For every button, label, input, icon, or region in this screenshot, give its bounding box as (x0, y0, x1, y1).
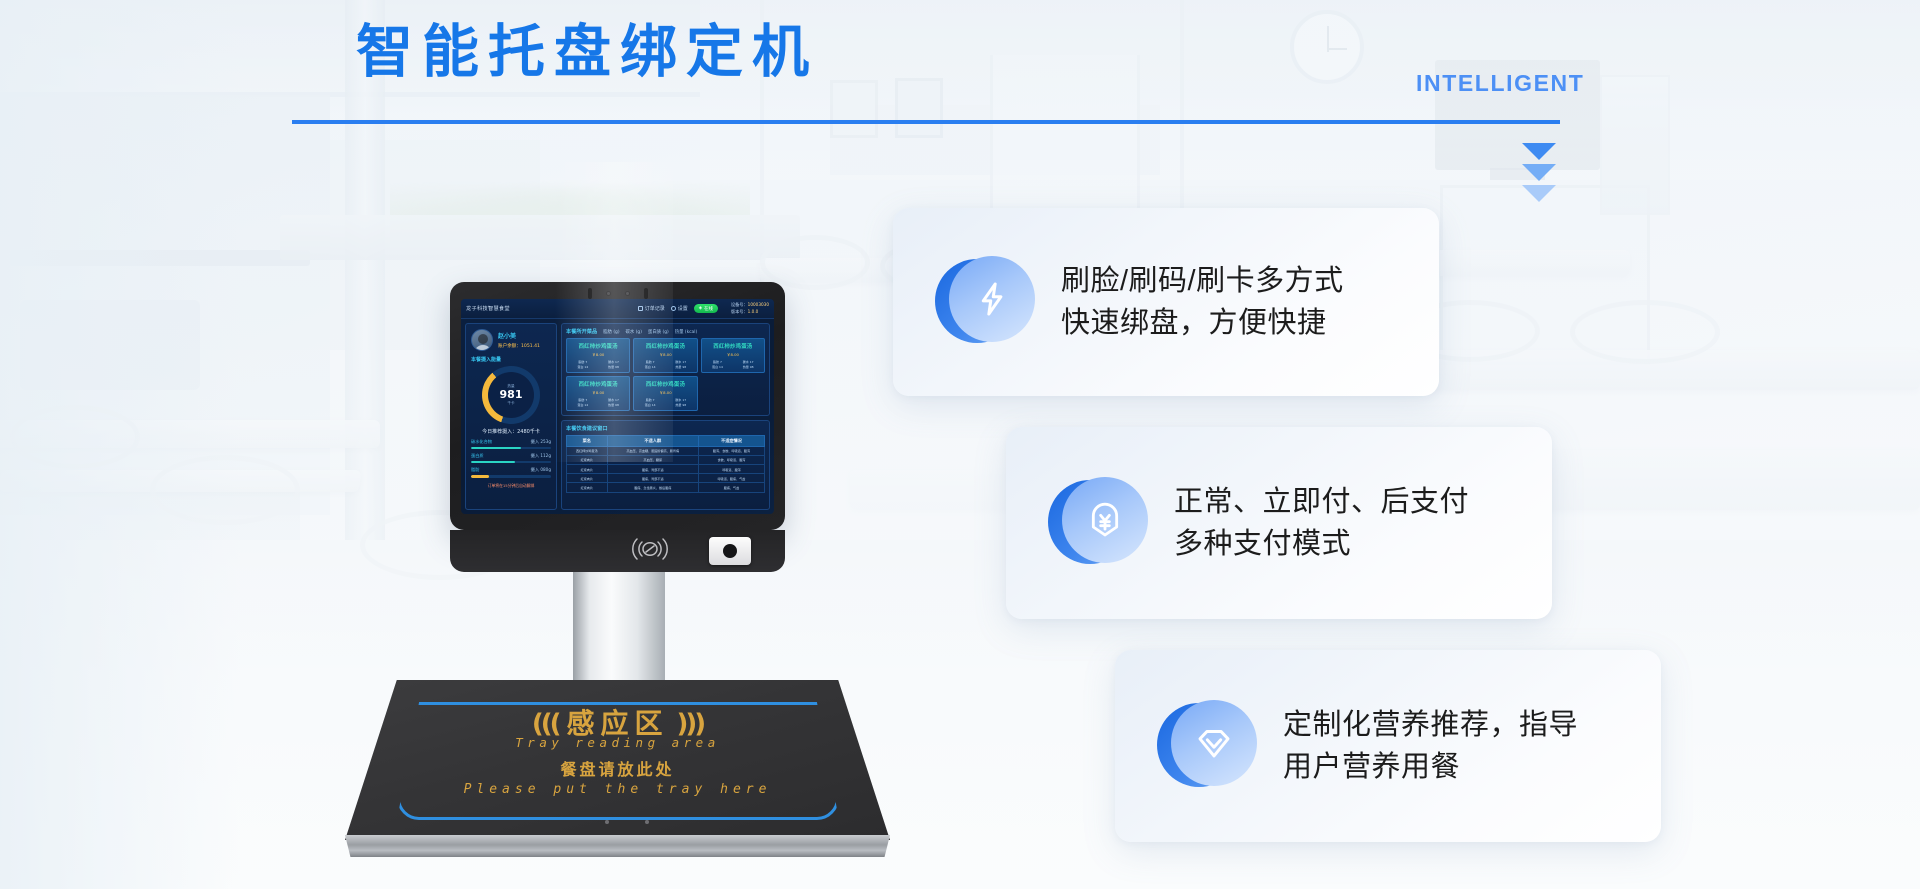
camera-icon (606, 291, 611, 296)
avatar (471, 329, 493, 351)
feature-card-nutrition[interactable]: 定制化营养推荐，指导 用户营养用餐 (1115, 650, 1661, 842)
nutrient-bar: 碳水化合物摄入 253g (471, 439, 551, 449)
canteen-brand-label: 龙子科技智慧食堂 (466, 305, 510, 312)
reader-sensor-dot (723, 544, 737, 558)
yen-payment-icon (1048, 477, 1140, 569)
dish-card[interactable]: 西红柿炒鸡蛋汤￥8.00脂肪 7碳水 17蛋白 14热量 98 (633, 338, 697, 373)
status-badge-label: 在线 (704, 306, 713, 312)
tray-binding-terminal: ((( 感应区 ))) Tray reading area 餐盘请放此处 Ple… (355, 282, 885, 842)
dish-col-protein: 蛋白质 (g) (648, 329, 669, 335)
dish-price: ￥8.00 (636, 390, 694, 396)
table-row: 红烧肉片腹痛、胃部不适呼吸道、腹泻 (567, 464, 765, 473)
feature-line-1: 正常、立即付、后支付 (1174, 481, 1469, 523)
dish-card[interactable]: 西红柿炒鸡蛋汤￥8.00脂肪 7碳水 17蛋白 14热量 98 (566, 376, 630, 411)
nutrient-bar-fill (471, 447, 521, 450)
nutrient-bar-fill (471, 461, 515, 464)
table-row: 西红柿炒鸡蛋汤高血压、高血糖、胆固醇偏高、肠胃病腹泻、食欲、呼吸道、腹泻 (567, 446, 765, 455)
down-arrows-group (1522, 143, 1556, 206)
nutrient-label: 蛋白质 (471, 453, 484, 459)
nutrient-bar-top: 脂肪摄入 080g (471, 467, 551, 473)
feature-card-text: 定制化营养推荐，指导 用户营养用餐 (1283, 704, 1578, 789)
chevron-down-icon (1522, 185, 1556, 202)
feature-card-text: 刷脸/刷码/刷卡多方式 快速绑盘，方便快捷 (1061, 260, 1344, 345)
table-cell: 腹泻、食欲、呼吸道、腹泻 (698, 446, 764, 455)
table-cell: 红烧肉片 (567, 474, 608, 483)
nutrient-amount: 摄入 253g (531, 439, 551, 445)
table-cell: 西红柿炒鸡蛋汤 (567, 446, 608, 455)
table-cell: 腹痛、急性肠炎、餐后腹痛 (607, 483, 698, 492)
nav-settings[interactable]: 设置 (671, 305, 688, 312)
dish-col-carb: 碳水 (g) (626, 329, 642, 335)
ring-inner: 热量 981 千卡 (488, 372, 534, 418)
user-balance-value: 1051.41 (521, 344, 540, 349)
dish-name: 西红柿炒鸡蛋汤 (636, 342, 694, 350)
table-cell: 食欲、呼吸道、腹泻 (698, 455, 764, 464)
base-led (645, 820, 649, 824)
dishes-grid: 西红柿炒鸡蛋汤￥8.00脂肪 7碳水 17蛋白 14热量 98西红柿炒鸡蛋汤￥8… (566, 338, 765, 411)
dish-price: ￥8.00 (569, 352, 627, 358)
dish-protein: 蛋白 14 (636, 365, 664, 370)
user-name: 赵小美 (498, 331, 540, 340)
dish-card[interactable]: 西红柿炒鸡蛋汤￥8.00脂肪 7碳水 17蛋白 14热量 98 (633, 376, 697, 411)
table-row: 红烧肉片腹痛、急性肠炎、餐后腹痛腹痛、气虚 (567, 483, 765, 492)
feature-line-1: 定制化营养推荐，指导 (1283, 704, 1578, 746)
table-cell: 呼吸道、腹痛、气虚 (698, 474, 764, 483)
screen-body: 赵小美 账户余额：1051.41 本餐摄入能量 热量 981 千卡 (461, 319, 774, 514)
feature-card-text: 正常、立即付、后支付 多种支付模式 (1174, 481, 1469, 566)
dishes-header-row: 本餐所开菜品 脂肪 (g) 碳水 (g) 蛋白质 (g) 热量 (kcal) (566, 328, 765, 335)
dish-nutrition: 脂肪 7碳水 17蛋白 14热量 98 (569, 398, 627, 407)
dish-name: 西红柿炒鸡蛋汤 (704, 342, 762, 350)
chevron-down-icon (1522, 164, 1556, 181)
nutrient-bar-track (471, 475, 551, 478)
dish-protein: 蛋白 14 (569, 365, 597, 370)
user-balance-row: 账户余额：1051.41 (498, 343, 540, 349)
nutrient-bar: 蛋白质摄入 112g (471, 453, 551, 463)
dishes-section-label: 本餐所开菜品 (566, 328, 597, 335)
col-dish-name: 菜名 (567, 436, 608, 447)
photo-left-fade (0, 0, 240, 889)
screen-nav: 订单记录 设置 ◈ 在线 设备号：10003030 (638, 302, 769, 315)
base-led (605, 820, 609, 824)
speaker-slot (644, 288, 648, 299)
ring-value: 981 (500, 389, 523, 400)
sensor-icon (625, 291, 630, 296)
nutrient-bars-group: 碳水化合物摄入 253g蛋白质摄入 112g脂肪摄入 080g (471, 439, 551, 478)
gear-icon (671, 306, 676, 311)
nutrient-bar-track (471, 461, 551, 464)
table-cell: 高血压、糖尿 (607, 455, 698, 464)
sensing-area-title: 感应区 (566, 710, 668, 738)
auto-unbind-tip: 订单将在15分钟后自动解绑 (471, 483, 551, 489)
nav-settings-label: 设置 (678, 305, 688, 312)
ring-unit: 千卡 (507, 401, 514, 406)
feature-line-1: 刷脸/刷码/刷卡多方式 (1061, 260, 1344, 302)
wave-right-icon: ))) (677, 711, 704, 737)
dish-col-energy: 热量 (kcal) (675, 329, 697, 335)
dish-price: ￥8.00 (636, 352, 694, 358)
dish-energy: 热量 98 (734, 365, 762, 370)
suggest-section-label: 本餐饮食建议窗口 (566, 425, 765, 432)
nav-order-record-label: 订单记录 (645, 305, 665, 312)
user-info: 赵小美 账户余额：1051.41 (498, 331, 540, 349)
dish-energy: 热量 98 (600, 365, 628, 370)
tray-instruction-en: Please put the tray here (345, 782, 890, 797)
table-cell: 红烧肉片 (567, 464, 608, 473)
dish-nutrition: 脂肪 7碳水 17蛋白 14热量 98 (636, 398, 694, 407)
feature-line-2: 快速绑盘，方便快捷 (1061, 302, 1344, 344)
table-cell: 腹痛、胃部不适 (607, 474, 698, 483)
nutrient-bar: 脂肪摄入 080g (471, 467, 551, 477)
title-underline-rule (292, 120, 1560, 124)
feature-line-2: 多种支付模式 (1174, 523, 1469, 565)
chevron-down-icon (1522, 143, 1556, 160)
col-unsuitable-group: 不适人群 (607, 436, 698, 447)
icon-front-circle (1171, 700, 1257, 786)
dish-energy: 热量 98 (667, 365, 695, 370)
camera-row (450, 287, 785, 299)
diet-suggestion-table: 菜名 不适人群 不适症情况 西红柿炒鸡蛋汤高血压、高血糖、胆固醇偏高、肠胃病腹泻… (566, 435, 765, 493)
nutrient-bar-fill (471, 475, 489, 478)
dish-protein: 蛋白 14 (569, 403, 597, 408)
wave-left-icon: ((( (532, 711, 559, 737)
dish-energy: 热量 98 (667, 403, 695, 408)
nutrient-amount: 摄入 112g (531, 453, 551, 459)
dish-col-fat: 脂肪 (g) (603, 329, 619, 335)
feature-line-2: 用户营养用餐 (1283, 746, 1578, 788)
feature-card-binding[interactable]: 刷脸/刷码/刷卡多方式 快速绑盘，方便快捷 (893, 208, 1439, 396)
version-row: 版本号：1.0.0 (731, 309, 769, 315)
user-nutrition-panel: 赵小美 账户余额：1051.41 本餐摄入能量 热量 981 千卡 (465, 323, 557, 510)
nav-order-record[interactable]: 订单记录 (638, 305, 665, 312)
version-label: 版本号： (731, 309, 748, 314)
feature-card-payment[interactable]: 正常、立即付、后支付 多种支付模式 (1006, 427, 1552, 619)
dish-card[interactable]: 西红柿炒鸡蛋汤￥8.00脂肪 7碳水 17蛋白 14热量 98 (566, 338, 630, 373)
screen-right-column: 本餐所开菜品 脂肪 (g) 碳水 (g) 蛋白质 (g) 热量 (kcal) 西… (561, 323, 770, 510)
nfc-wave-icon[interactable] (621, 534, 679, 569)
screen-header-bar: 龙子科技智慧食堂 订单记录 设置 ◈ 在线 (461, 299, 774, 319)
table-cell: 呼吸道、腹泻 (698, 464, 764, 473)
device-no-value: 10003030 (748, 302, 769, 307)
table-row: 红烧肉片腹痛、胃部不适呼吸道、腹痛、气虚 (567, 474, 765, 483)
nutrient-label: 脂肪 (471, 467, 479, 473)
nutrient-amount: 摄入 080g (531, 467, 551, 473)
dish-name: 西红柿炒鸡蛋汤 (636, 380, 694, 388)
dish-price: ￥8.00 (704, 352, 762, 358)
table-cell: 高血压、高血糖、胆固醇偏高、肠胃病 (607, 446, 698, 455)
dish-card[interactable]: 西红柿炒鸡蛋汤￥8.00脂肪 7碳水 17蛋白 14热量 98 (701, 338, 765, 373)
dish-energy: 热量 98 (600, 403, 628, 408)
nutrient-bar-track (471, 447, 551, 450)
tray-instruction-cn: 餐盘请放此处 (345, 756, 890, 780)
diet-suggestion-panel: 本餐饮食建议窗口 菜名 不适人群 不适症情况 西红柿炒鸡蛋汤高血压、高血糖、胆固… (561, 420, 770, 510)
device-meta-block: 设备号：10003030 版本号：1.0.0 (731, 302, 769, 315)
recommended-intake-line: 今日推荐摄入：2480千卡 (471, 428, 551, 435)
wifi-icon: ◈ (699, 306, 702, 311)
dishes-panel: 本餐所开菜品 脂肪 (g) 碳水 (g) 蛋白质 (g) 热量 (kcal) 西… (561, 323, 770, 416)
card-reader-module[interactable] (709, 537, 751, 565)
table-cell: 红烧肉片 (567, 483, 608, 492)
table-cell: 红烧肉片 (567, 455, 608, 464)
base-metal-edge (345, 835, 890, 857)
dish-nutrition: 脂肪 7碳水 17蛋白 14热量 98 (704, 360, 762, 369)
dish-price: ￥8.00 (569, 390, 627, 396)
speaker-slot (588, 288, 592, 299)
terminal-screen[interactable]: 龙子科技智慧食堂 订单记录 设置 ◈ 在线 (461, 299, 774, 514)
dish-name: 西红柿炒鸡蛋汤 (569, 342, 627, 350)
nutrient-bar-top: 碳水化合物摄入 253g (471, 439, 551, 445)
table-body: 西红柿炒鸡蛋汤高血压、高血糖、胆固醇偏高、肠胃病腹泻、食欲、呼吸道、腹泻红烧肉片… (567, 446, 765, 492)
user-row: 赵小美 账户余额：1051.41 (471, 329, 551, 351)
sensing-area-label-block: ((( 感应区 ))) Tray reading area 餐盘请放此处 Ple… (345, 710, 890, 797)
col-unsuitable-condition: 不适症情况 (698, 436, 764, 447)
device-lower-bezel (450, 530, 785, 572)
table-head: 菜名 不适人群 不适症情况 (567, 436, 765, 447)
table-header-row: 菜名 不适人群 不适症情况 (567, 436, 765, 447)
dish-nutrition: 脂肪 7碳水 17蛋白 14热量 98 (569, 360, 627, 369)
diamond-nutrition-icon (1157, 700, 1249, 792)
lightning-bolt-icon (935, 256, 1027, 348)
dish-protein: 蛋白 14 (704, 365, 732, 370)
intake-section-label: 本餐摄入能量 (471, 356, 551, 363)
table-cell: 腹痛、气虚 (698, 483, 764, 492)
icon-front-circle (1062, 477, 1148, 563)
dish-name: 西红柿炒鸡蛋汤 (569, 380, 627, 388)
sensing-area-title-row: ((( 感应区 ))) (345, 710, 890, 738)
order-record-icon (638, 306, 643, 311)
status-badge-online: ◈ 在线 (694, 304, 718, 313)
sensing-area-subtitle-en: Tray reading area (345, 735, 890, 750)
dish-protein: 蛋白 14 (636, 403, 664, 408)
device-no-label: 设备号： (731, 302, 748, 307)
nutrient-label: 碳水化合物 (471, 439, 492, 445)
calorie-ring-gauge: 热量 981 千卡 (482, 366, 540, 424)
icon-front-circle (949, 256, 1035, 342)
nutrient-bar-top: 蛋白质摄入 112g (471, 453, 551, 459)
dish-nutrition: 脂肪 7碳水 17蛋白 14热量 98 (636, 360, 694, 369)
hero-subtitle-en: INTELLIGENT (1416, 70, 1584, 97)
table-row: 红烧肉片高血压、糖尿食欲、呼吸道、腹泻 (567, 455, 765, 464)
version-value: 1.0.0 (748, 309, 759, 314)
device-base: ((( 感应区 ))) Tray reading area 餐盘请放此处 Ple… (345, 680, 890, 860)
table-cell: 腹痛、胃部不适 (607, 464, 698, 473)
device-screen-bezel: 龙子科技智慧食堂 订单记录 设置 ◈ 在线 (450, 282, 785, 530)
user-balance-label: 账户余额： (498, 344, 521, 349)
